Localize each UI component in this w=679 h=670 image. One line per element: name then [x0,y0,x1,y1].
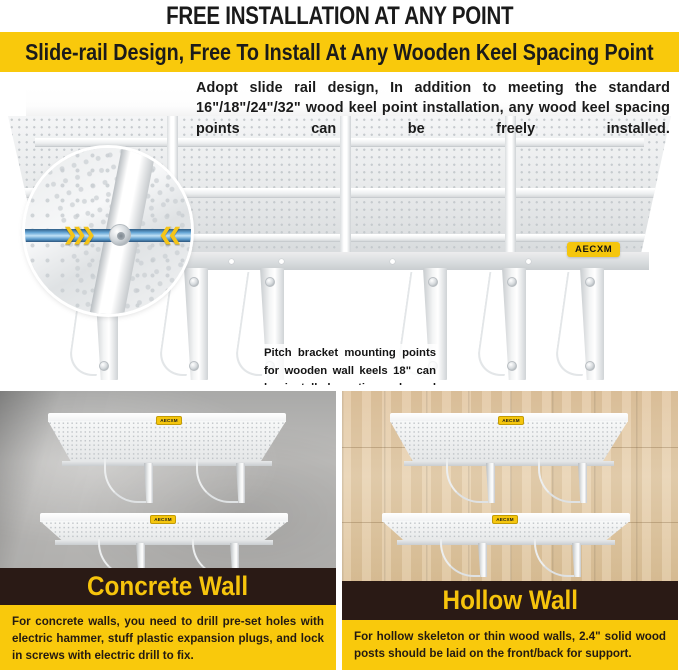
bracket-screw-hole [585,277,595,287]
edge-screw [279,259,284,264]
shelf-underside-deck [390,421,628,463]
brand-logo-badge: AECXM [498,416,524,425]
bracket-screw-hole [507,277,517,287]
subtitle-text: Slide-rail Design, Free To Install At An… [25,39,653,66]
wood-wall-photo: AECXM AECXM [342,391,678,581]
concrete-wall-photo: AECXM AECXM [0,391,336,568]
bracket-screw-hole [265,277,275,287]
brand-logo-badge: AECXM [567,242,620,257]
mounted-shelf: AECXM [382,513,630,581]
mounting-bracket [502,268,526,380]
panel-title-bar: Concrete Wall [0,568,336,604]
arrow-right-icon: ❯❯❯ [63,226,91,243]
subtitle-banner: Slide-rail Design, Free To Install At An… [0,32,679,72]
perforation-pattern [390,421,628,463]
panel-concrete-wall: AECXM AECXM Concrete Wall For concrete w… [0,391,336,670]
rail-screw-icon [109,224,131,246]
panel-hollow-wall: AECXM AECXM Hollow Wall For hollow skele… [342,391,678,670]
brand-logo-badge: AECXM [156,416,182,425]
headline-bar: FREE INSTALLATION AT ANY POINT [0,0,679,32]
shelf-front-edge [55,540,273,545]
mounted-shelf: AECXM [390,413,628,505]
mounted-shelf: AECXM [48,413,286,505]
wall-type-panels: AECXM AECXM Concrete Wall For concrete w… [0,391,679,670]
perforation-pattern [48,421,286,463]
bracket-truss [534,539,574,577]
shelf-underside-deck [48,421,286,463]
bracket-screw-hole [428,277,438,287]
bracket-screw-hole [585,361,595,371]
panel-title-text: Concrete Wall [87,571,248,602]
slide-rail-magnifier: ❯❯❯ ❮❮ [25,148,191,314]
bracket-truss [196,459,238,503]
edge-screw [229,259,234,264]
bracket-truss [98,539,138,568]
bracket-screw-hole [189,361,199,371]
bracket-screw-hole [99,361,109,371]
mounting-bracket [580,268,604,380]
bracket-truss [104,459,146,503]
bracket-truss [440,539,480,577]
panel-description: For concrete walls, you need to drill pr… [0,605,336,670]
edge-screw [526,259,531,264]
edge-screw [390,259,395,264]
brand-logo-badge: AECXM [150,515,176,524]
shelf-front-edge [397,540,615,545]
pitch-bracket-callout: Pitch bracket mounting points for wooden… [262,344,438,385]
bracket-truss [192,539,232,568]
brand-logo-badge: AECXM [492,515,518,524]
mounted-shelf: AECXM [40,513,288,568]
bracket-truss [538,459,580,503]
page-title: FREE INSTALLATION AT ANY POINT [166,2,513,31]
arrow-left-icon: ❮❮ [159,226,178,243]
panel-title-bar: Hollow Wall [342,581,678,620]
bracket-screw-hole [507,361,517,371]
hero-section: AECXM Adopt slide rail design, In additi… [0,72,679,385]
panel-description: For hollow skeleton or thin wood walls, … [342,620,678,670]
panel-title-text: Hollow Wall [442,585,577,616]
bracket-truss [446,459,488,503]
intro-paragraph: Adopt slide rail design, In addition to … [196,78,670,139]
